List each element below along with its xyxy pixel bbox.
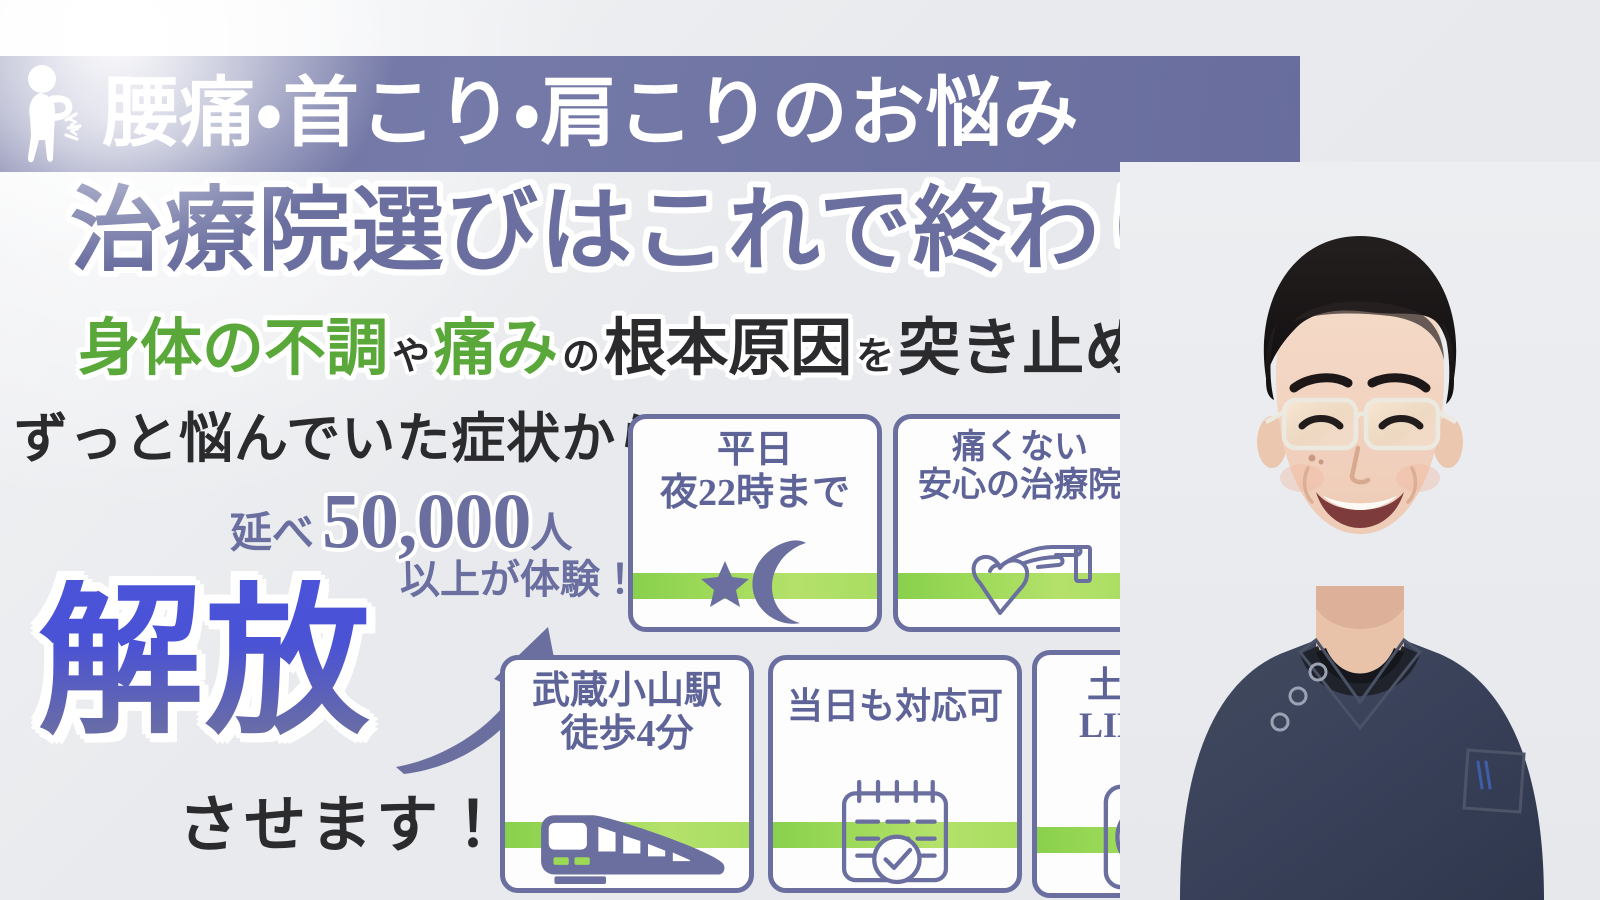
sub-headline-dark-2: 突き止め (898, 318, 1146, 380)
patient-count-number: 50,000 (322, 482, 531, 560)
sub-headline-green-2: 痛み (434, 318, 558, 380)
feature-card-weeknight-line1: 平日 (660, 429, 850, 472)
feature-card-painless-title: 痛くない 安心の治療院 (918, 429, 1122, 505)
feature-card-station-title: 武蔵小山駅 徒歩4分 (532, 670, 722, 755)
sub-headline-connector-1: や (388, 338, 434, 376)
sub-headline-green-1: 身体の不調 (78, 318, 388, 380)
feature-card-painless[interactable]: 痛くない 安心の治療院 (893, 414, 1147, 632)
sub-headline-dark-1: 根本原因 (604, 318, 852, 380)
patient-count-subtext: 以上が体験！ (400, 560, 640, 600)
hand-heart-icon (898, 505, 1142, 627)
feature-card-station[interactable]: 武蔵小山駅 徒歩4分 (500, 655, 754, 893)
train-icon (505, 755, 749, 888)
feature-card-sameday[interactable]: 当日も対応可 (768, 655, 1022, 893)
emphasis-word: 解放 (38, 580, 372, 745)
symptom-from-text: ずっと悩んでいた症状から (14, 412, 671, 466)
feature-card-sameday-title: 当日も対応可 (787, 686, 1003, 726)
feature-card-painless-line2: 安心の治療院 (918, 467, 1122, 505)
patient-count-prefix: 延べ (230, 513, 314, 555)
feature-card-station-line2: 徒歩4分 (532, 713, 722, 756)
patient-count: 延べ 50,000 人 (230, 482, 573, 560)
ribbon-text: 腰痛・首こり・肩こりのお悩み (102, 76, 1080, 152)
feature-card-sameday-line1: 当日も対応可 (787, 686, 1003, 726)
feature-card-weeknight-line2: 夜22時まで (660, 472, 850, 515)
sub-headline-connector-3: を (852, 338, 898, 376)
feature-card-weeknight[interactable]: 平日 夜22時まで (628, 414, 882, 632)
patient-count-unit: 人 (531, 513, 573, 555)
crescent-moon-star-icon (633, 514, 877, 627)
feature-card-weeknight-title: 平日 夜22時まで (660, 429, 850, 514)
page-title: 治療院選びはこれで終わり！ (70, 185, 1289, 277)
calendar-check-icon (773, 726, 1017, 888)
feature-card-painless-line1: 痛くない (918, 429, 1122, 467)
header-ribbon: 腰痛・首こり・肩こりのお悩み (0, 56, 1300, 172)
banner-stage: 腰痛・首こり・肩こりのお悩み 治療院選びはこれで終わり！ 身体の不調 や 痛み … (0, 0, 1600, 900)
therapist-portrait (1120, 162, 1600, 900)
sub-headline-connector-2: の (558, 338, 604, 376)
closing-text: させます！ (178, 795, 508, 857)
sub-headline: 身体の不調 や 痛み の 根本原因 を 突き止め (78, 318, 1146, 380)
back-pain-person-icon (20, 62, 98, 166)
feature-card-station-line1: 武蔵小山駅 (532, 670, 722, 713)
